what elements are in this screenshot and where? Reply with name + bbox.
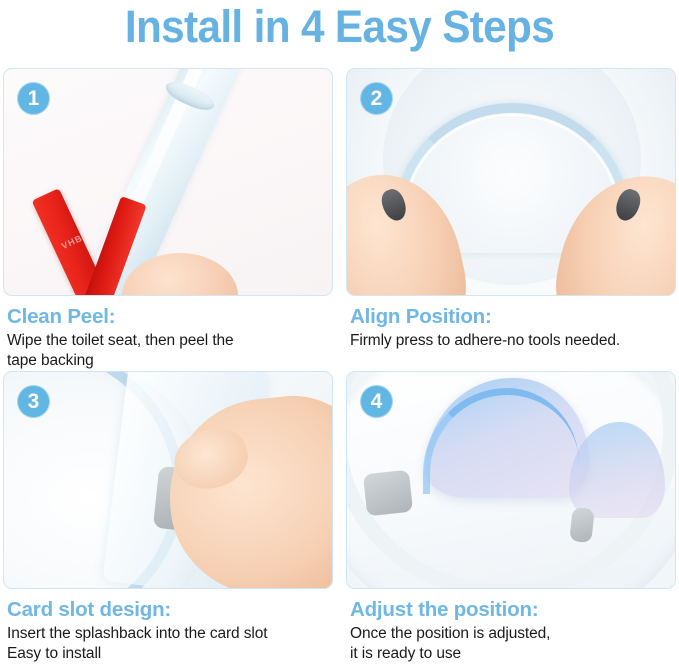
step-2-body-line-1: Firmly press to adhere-no tools needed.: [350, 331, 674, 351]
step-3-caption: Card slot design: Insert the splashback …: [3, 589, 333, 664]
step-1-body-line-1: Wipe the toilet seat, then peel the: [7, 331, 331, 351]
left-clip-graphic: [363, 470, 413, 517]
step-1-body-line-2: tape backing: [7, 351, 331, 371]
step-2-photo: 2: [346, 68, 676, 296]
step-1-caption: Clean Peel: Wipe the toilet seat, then p…: [3, 296, 333, 371]
step-badge-3: 3: [17, 385, 50, 418]
step-4-body-line-1: Once the position is adjusted,: [350, 624, 674, 644]
infographic-page: Install in 4 Easy Steps VHB 1 Clean Peel…: [0, 0, 679, 672]
step-4-caption: Adjust the position: Once the position i…: [346, 589, 676, 664]
step-1-photo: VHB 1: [3, 68, 333, 296]
step-3-photo: 3: [3, 371, 333, 589]
step-4-heading: Adjust the position:: [350, 598, 674, 622]
step-4-body: Once the position is adjusted, it is rea…: [350, 624, 674, 664]
step-2-body: Firmly press to adhere-no tools needed.: [350, 331, 674, 351]
step-3-heading: Card slot design:: [7, 598, 331, 622]
step-2-heading: Align Position:: [350, 305, 674, 329]
page-title: Install in 4 Easy Steps: [20, 0, 658, 64]
steps-grid: VHB 1 Clean Peel: Wipe the toilet seat, …: [3, 68, 676, 672]
right-clip-graphic: [569, 507, 594, 543]
step-badge-2: 2: [360, 82, 393, 115]
step-3-body-line-1: Insert the splashback into the card slot: [7, 624, 331, 644]
step-card-1: VHB 1 Clean Peel: Wipe the toilet seat, …: [3, 68, 333, 371]
step-3-body-line-2: Easy to install: [7, 644, 331, 664]
step-badge-1: 1: [17, 82, 50, 115]
step-badge-4: 4: [360, 385, 393, 418]
step-4-body-line-2: it is ready to use: [350, 644, 674, 664]
step-card-3: 3 Card slot design: Insert the splashbac…: [3, 371, 333, 671]
step-2-caption: Align Position: Firmly press to adhere-n…: [346, 296, 676, 351]
step-1-body: Wipe the toilet seat, then peel the tape…: [7, 331, 331, 371]
step-card-4: 4 Adjust the position: Once the position…: [346, 371, 676, 671]
step-card-2: 2 Align Position: Firmly press to adhere…: [346, 68, 676, 371]
step-1-heading: Clean Peel:: [7, 305, 331, 329]
step-4-photo: 4: [346, 371, 676, 589]
step-3-body: Insert the splashback into the card slot…: [7, 624, 331, 664]
